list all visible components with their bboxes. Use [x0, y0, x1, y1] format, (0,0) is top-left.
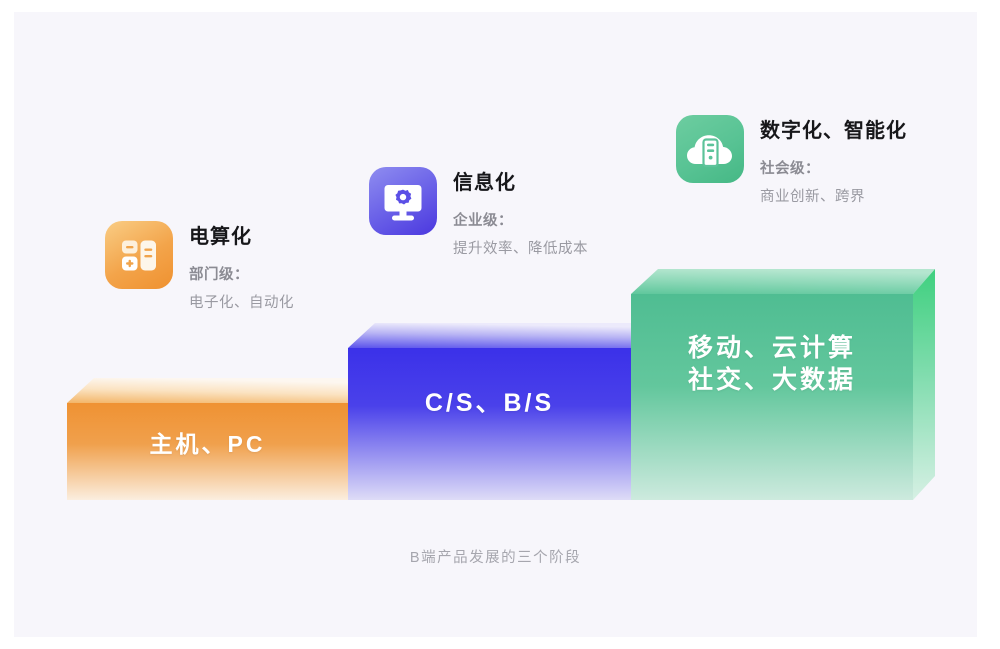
calculator-icon — [105, 221, 173, 289]
step-3-level: 社会级： — [760, 157, 907, 178]
step-3-texts: 数字化、智能化 社会级： 商业创新、跨界 — [760, 115, 907, 206]
monitor-gear-icon — [369, 167, 437, 235]
step-2-texts: 信息化 企业级： 提升效率、降低成本 — [453, 167, 588, 258]
bar-label-step-1: 主机、PC — [67, 430, 348, 459]
step-3-desc: 商业创新、跨界 — [760, 185, 907, 206]
step-3-title: 数字化、智能化 — [760, 119, 907, 144]
bar-label-step-3: 移动、云计算 社交、大数据 — [631, 332, 913, 396]
bar-label-step-2: C/S、B/S — [348, 387, 631, 419]
infographic-canvas: 主机、PC C/S、B/S 移动、云计算 社交、大数据 电算化 部门级： 电子化… — [14, 12, 977, 637]
cloud-server-icon — [676, 115, 744, 183]
step-2-title: 信息化 — [453, 171, 588, 196]
step-group-3: 数字化、智能化 社会级： 商业创新、跨界 — [676, 115, 907, 206]
three-step-bar-chart — [14, 12, 977, 637]
step-2-desc: 提升效率、降低成本 — [453, 237, 588, 258]
step-1-title: 电算化 — [189, 225, 294, 250]
step-1-desc: 电子化、自动化 — [189, 291, 294, 312]
bar-label-step-3-line1: 移动、云计算 — [631, 332, 913, 364]
step-2-level: 企业级： — [453, 209, 588, 230]
step-1-texts: 电算化 部门级： 电子化、自动化 — [189, 221, 294, 312]
chart-caption: B端产品发展的三个阶段 — [14, 546, 977, 567]
bar-label-step-3-line2: 社交、大数据 — [631, 364, 913, 396]
step-group-2: 信息化 企业级： 提升效率、降低成本 — [369, 167, 588, 258]
step-1-level: 部门级： — [189, 263, 294, 284]
step-group-1: 电算化 部门级： 电子化、自动化 — [105, 221, 294, 312]
